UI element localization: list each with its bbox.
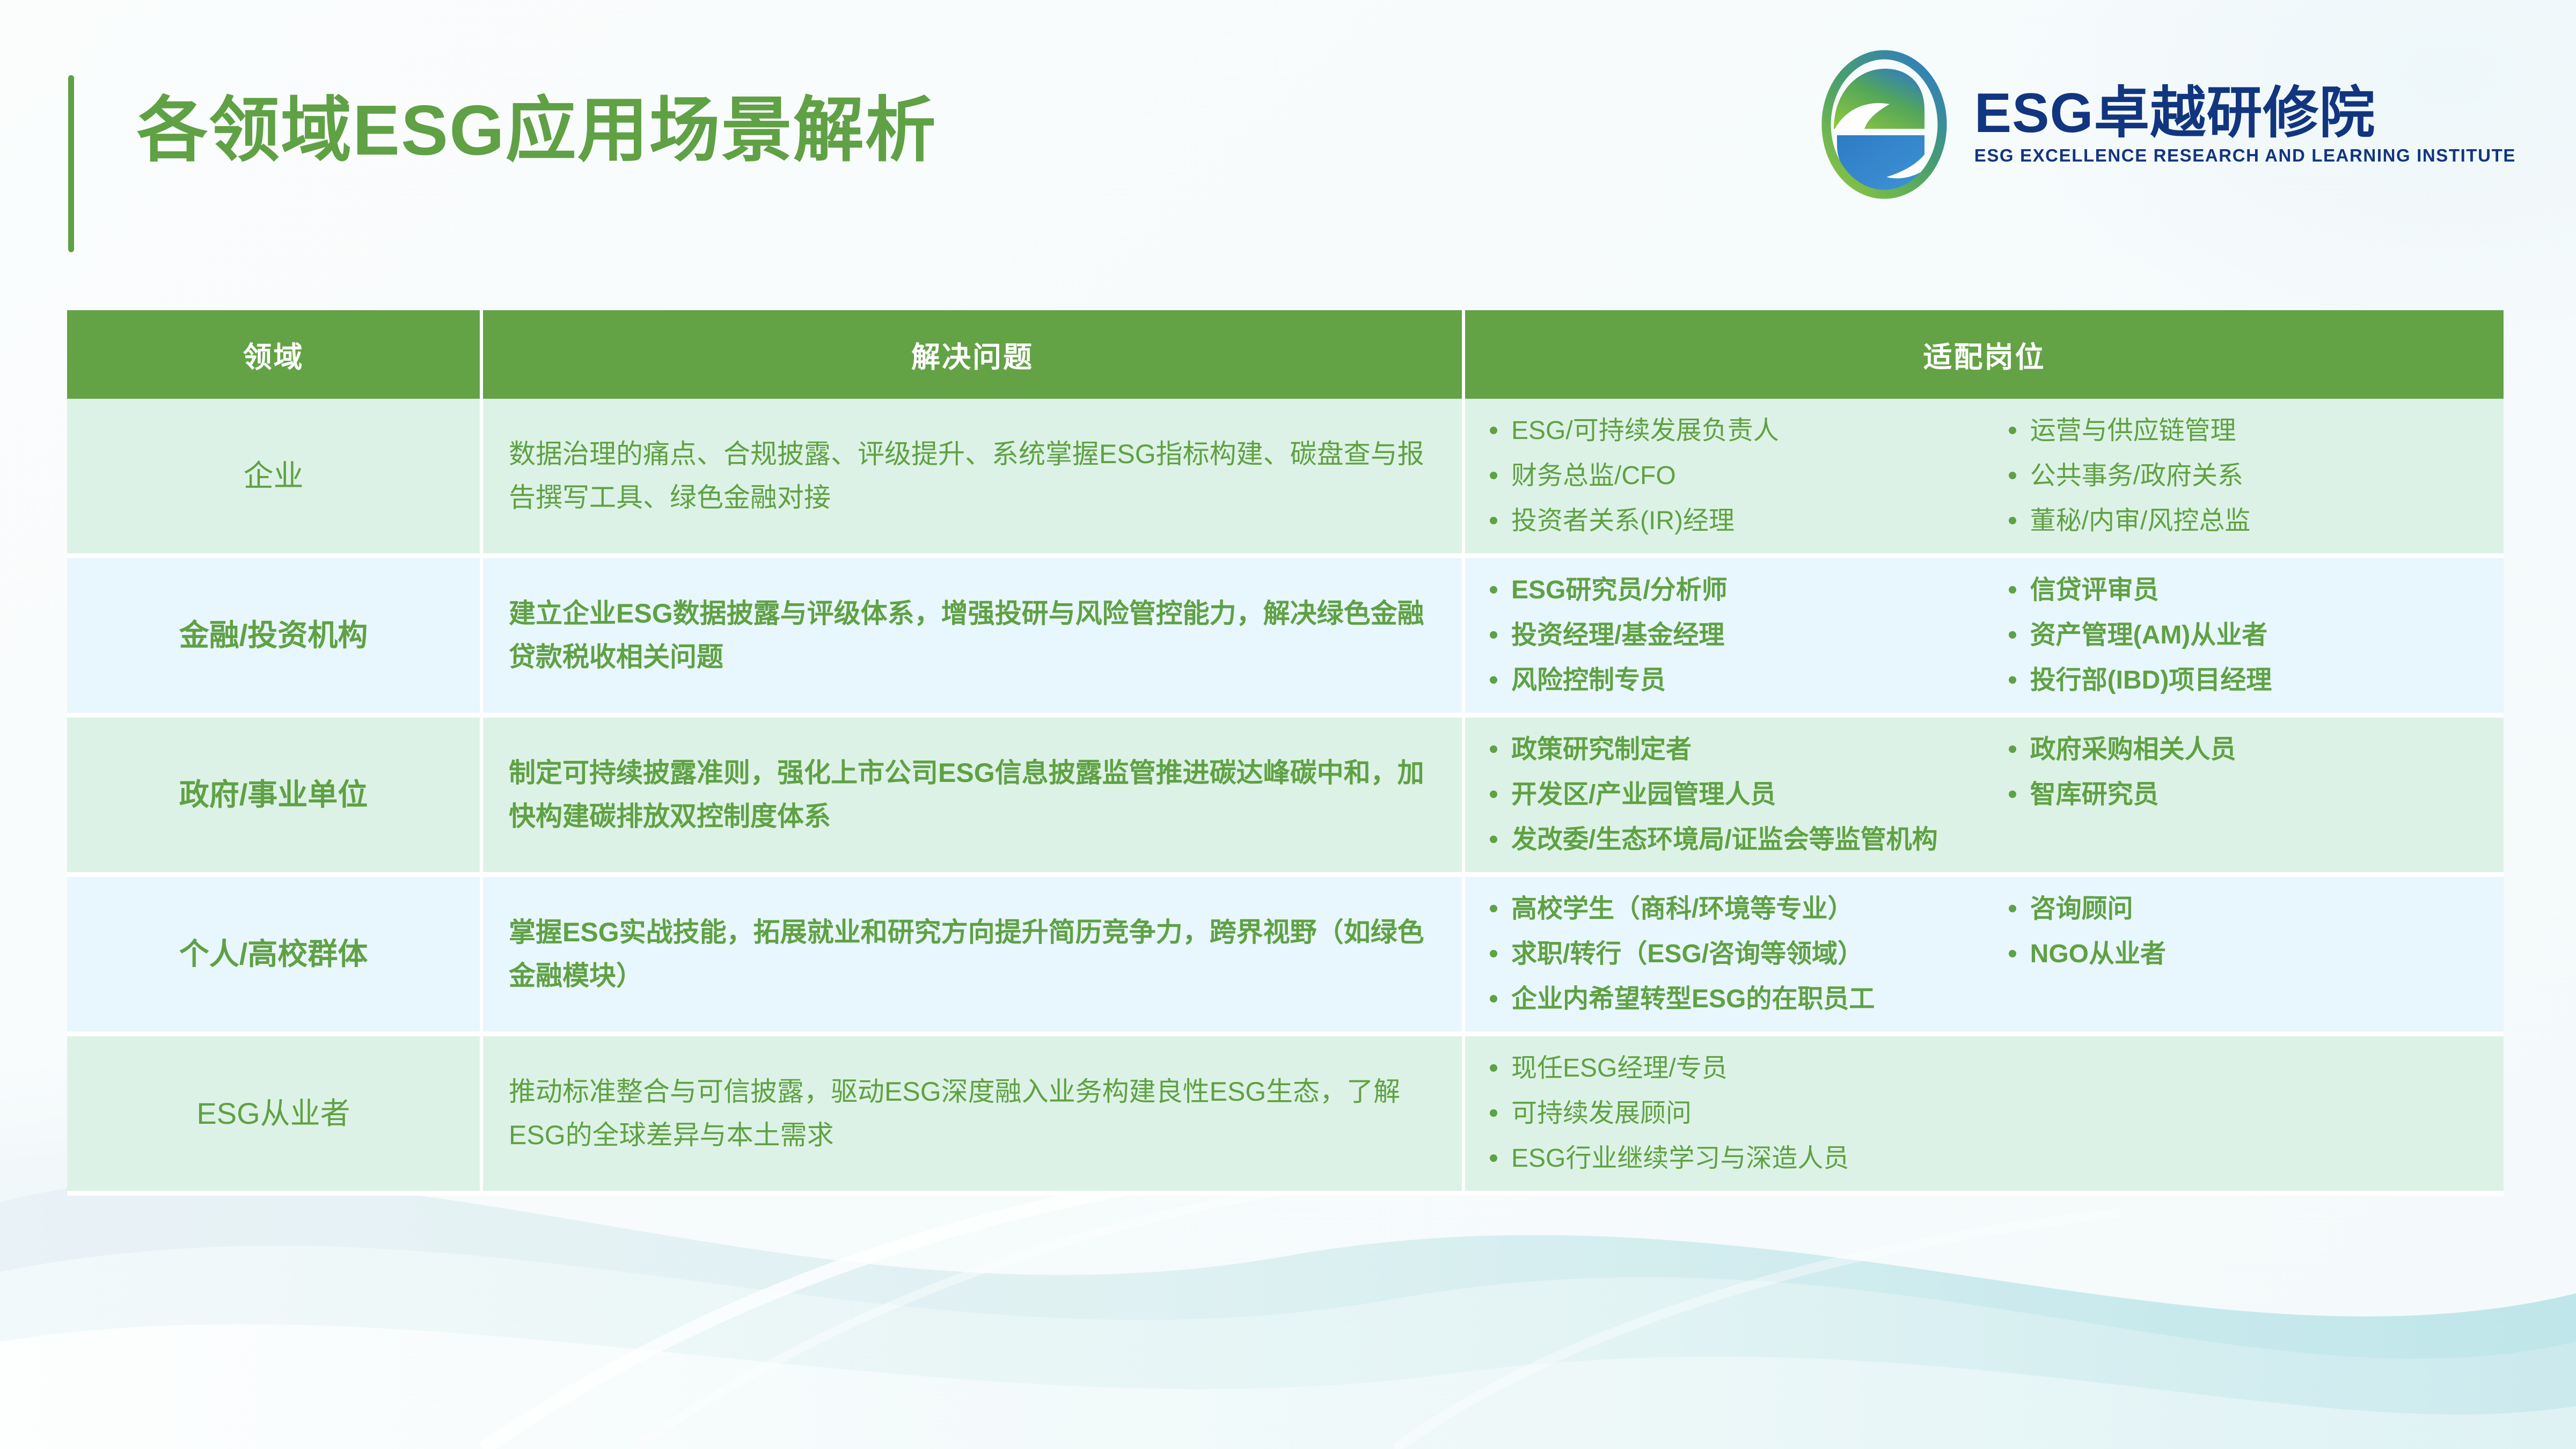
bullet-icon — [2009, 791, 2016, 798]
role-item: ESG行业继续学习与深造人员 — [1490, 1143, 2009, 1175]
logo-title: ESG卓越研修院 — [1974, 85, 2516, 141]
domain-label: 企业 — [67, 458, 480, 494]
bullet-icon — [2009, 517, 2016, 524]
esg-emblem-icon — [1814, 49, 1954, 200]
table-row: 政府/事业单位制定可持续披露准则，强化上市公司ESG信息披露监管推进碳达峰碳中和… — [67, 718, 2504, 877]
role-item: 咨询顾问 — [2009, 893, 2487, 925]
role-item: 财务总监/CFO — [1490, 460, 2009, 492]
role-label: 政府采购相关人员 — [2030, 734, 2236, 766]
table-row: ESG从业者推动标准整合与可信披露，驱动ESG深度融入业务构建良性ESG生态，了… — [67, 1036, 2504, 1196]
role-label: 可持续发展顾问 — [1511, 1097, 1692, 1130]
role-label: 求职/转行（ESG/咨询等领域） — [1511, 938, 1863, 970]
domain-cell: 金融/投资机构 — [67, 558, 483, 718]
roles-cell: 现任ESG经理/专员可持续发展顾问ESG行业继续学习与深造人员 — [1465, 1036, 2504, 1196]
role-item: 投资者关系(IR)经理 — [1490, 505, 2009, 537]
domain-cell: 政府/事业单位 — [67, 718, 483, 877]
role-label: 企业内希望转型ESG的在职员工 — [1511, 983, 1875, 1015]
role-item: 高校学生（商科/环境等专业） — [1490, 893, 2009, 925]
bullet-icon — [2009, 586, 2016, 594]
problem-text: 建立企业ESG数据披露与评级体系，增强投研与风险管控能力，解决绿色金融贷款税收相… — [483, 592, 1462, 679]
roles-column-right: 咨询顾问NGO从业者 — [2009, 893, 2487, 970]
bullet-icon — [1490, 517, 1497, 524]
role-item: 现任ESG经理/专员 — [1490, 1052, 2009, 1085]
bullet-icon — [1490, 791, 1497, 798]
roles-cell: ESG/可持续发展负责人财务总监/CFO投资者关系(IR)经理运营与供应链管理公… — [1465, 399, 2504, 558]
table-row: 个人/高校群体掌握ESG实战技能，拓展就业和研究方向提升简历竞争力，跨界视野（如… — [67, 877, 2504, 1036]
role-label: 投资者关系(IR)经理 — [1511, 505, 1735, 537]
table-header-row: 领域解决问题适配岗位 — [67, 310, 2504, 399]
roles-cell: ESG研究员/分析师投资经理/基金经理风险控制专员信贷评审员资产管理(AM)从业… — [1465, 558, 2504, 718]
role-label: 政策研究制定者 — [1511, 734, 1692, 766]
scenario-table: 领域解决问题适配岗位企业数据治理的痛点、合规披露、评级提升、系统掌握ESG指标构… — [67, 310, 2504, 1196]
table-row: 金融/投资机构建立企业ESG数据披露与评级体系，增强投研与风险管控能力，解决绿色… — [67, 558, 2504, 718]
problem-text: 制定可持续披露准则，强化上市公司ESG信息披露监管推进碳达峰碳中和，加快构建碳排… — [483, 751, 1462, 838]
role-label: ESG研究员/分析师 — [1511, 574, 1728, 606]
domain-label: 政府/事业单位 — [67, 777, 480, 813]
role-label: 信贷评审员 — [2030, 574, 2159, 606]
problem-cell: 数据治理的痛点、合规披露、评级提升、系统掌握ESG指标构建、碳盘查与报告撰写工具… — [483, 399, 1465, 558]
domain-cell: 个人/高校群体 — [67, 877, 483, 1036]
roles-column-right: 信贷评审员资产管理(AM)从业者投行部(IBD)项目经理 — [2009, 574, 2487, 697]
role-label: 咨询顾问 — [2030, 893, 2133, 925]
role-item: ESG/可持续发展负责人 — [1490, 415, 2009, 447]
bullet-icon — [2009, 631, 2016, 639]
role-label: ESG行业继续学习与深造人员 — [1511, 1143, 1849, 1175]
role-label: 公共事务/政府关系 — [2030, 460, 2243, 492]
role-label: 财务总监/CFO — [1511, 460, 1676, 492]
roles-column-left: ESG/可持续发展负责人财务总监/CFO投资者关系(IR)经理 — [1490, 415, 2009, 537]
roles-list: ESG/可持续发展负责人财务总监/CFO投资者关系(IR)经理运营与供应链管理公… — [1465, 415, 2504, 537]
role-label: 董秘/内审/风控总监 — [2030, 505, 2251, 537]
column-header-3: 适配岗位 — [1465, 310, 2504, 399]
bullet-icon — [1490, 1064, 1497, 1072]
problem-text: 推动标准整合与可信披露，驱动ESG深度融入业务构建良性ESG生态，了解ESG的全… — [483, 1070, 1462, 1157]
bullet-icon — [2009, 905, 2016, 912]
roles-column-right: 政府采购相关人员智库研究员 — [2009, 734, 2487, 811]
roles-columns: 高校学生（商科/环境等专业）求职/转行（ESG/咨询等领域）咨询顾问NGO从业者 — [1490, 893, 2487, 970]
domain-cell: 企业 — [67, 399, 483, 558]
logo-subtitle: ESG EXCELLENCE RESEARCH AND LEARNING INS… — [1974, 147, 2516, 164]
slide-header: 各领域ESG应用场景解析 — [0, 0, 2576, 279]
bullet-icon — [1490, 1109, 1497, 1117]
role-item: 政府采购相关人员 — [2009, 734, 2487, 766]
table-row: 企业数据治理的痛点、合规披露、评级提升、系统掌握ESG指标构建、碳盘查与报告撰写… — [67, 399, 2504, 558]
role-label: 投行部(IBD)项目经理 — [2030, 664, 2272, 697]
role-item: 风险控制专员 — [1490, 664, 2009, 697]
role-item: 求职/转行（ESG/咨询等领域） — [1490, 938, 2009, 970]
role-label: ESG/可持续发展负责人 — [1511, 415, 1779, 447]
bullet-icon — [2009, 427, 2016, 434]
roles-cell: 高校学生（商科/环境等专业）求职/转行（ESG/咨询等领域）咨询顾问NGO从业者… — [1465, 877, 2504, 1036]
roles-list: 政策研究制定者开发区/产业园管理人员政府采购相关人员智库研究员发改委/生态环境局… — [1465, 734, 2504, 856]
problem-text: 数据治理的痛点、合规披露、评级提升、系统掌握ESG指标构建、碳盘查与报告撰写工具… — [483, 433, 1462, 519]
column-header-2: 解决问题 — [483, 310, 1465, 399]
role-label: NGO从业者 — [2030, 938, 2166, 970]
roles-column-left: 高校学生（商科/环境等专业）求职/转行（ESG/咨询等领域） — [1490, 893, 2009, 970]
problem-cell: 推动标准整合与可信披露，驱动ESG深度融入业务构建良性ESG生态，了解ESG的全… — [483, 1036, 1465, 1196]
role-item: 企业内希望转型ESG的在职员工 — [1490, 983, 2487, 1015]
bullet-icon — [2009, 472, 2016, 479]
role-item: 开发区/产业园管理人员 — [1490, 779, 2009, 811]
domain-label: 金融/投资机构 — [67, 617, 480, 653]
bullet-icon — [1490, 427, 1497, 434]
roles-list: 现任ESG经理/专员可持续发展顾问ESG行业继续学习与深造人员 — [1465, 1052, 2504, 1175]
role-label: 运营与供应链管理 — [2030, 415, 2236, 447]
role-label: 投资经理/基金经理 — [1511, 619, 1724, 652]
roles-column-right: 运营与供应链管理公共事务/政府关系董秘/内审/风控总监 — [2009, 415, 2487, 537]
role-item: 公共事务/政府关系 — [2009, 460, 2487, 492]
brand-logo: ESG卓越研修院 ESG EXCELLENCE RESEARCH AND LEA… — [1814, 49, 2516, 200]
problem-text: 掌握ESG实战技能，拓展就业和研究方向提升简历竞争力，跨界视野（如绿色金融模块） — [483, 911, 1462, 998]
role-label: 高校学生（商科/环境等专业） — [1511, 893, 1853, 925]
roles-column-left: ESG研究员/分析师投资经理/基金经理风险控制专员 — [1490, 574, 2009, 697]
roles-column-right — [2009, 1052, 2487, 1175]
column-header-1: 领域 — [67, 310, 483, 399]
role-label: 现任ESG经理/专员 — [1511, 1052, 1728, 1085]
bullet-icon — [1490, 995, 1497, 1002]
bullet-icon — [1490, 836, 1497, 843]
role-item: 信贷评审员 — [2009, 574, 2487, 606]
role-item: 投行部(IBD)项目经理 — [2009, 664, 2487, 697]
roles-column-left: 现任ESG经理/专员可持续发展顾问ESG行业继续学习与深造人员 — [1490, 1052, 2009, 1175]
roles-columns: 现任ESG经理/专员可持续发展顾问ESG行业继续学习与深造人员 — [1490, 1052, 2487, 1175]
role-item: 资产管理(AM)从业者 — [2009, 619, 2487, 652]
role-item: 发改委/生态环境局/证监会等监管机构 — [1490, 824, 2487, 856]
roles-list: ESG研究员/分析师投资经理/基金经理风险控制专员信贷评审员资产管理(AM)从业… — [1465, 574, 2504, 697]
domain-cell: ESG从业者 — [67, 1036, 483, 1196]
bullet-icon — [1490, 676, 1497, 684]
role-label: 开发区/产业园管理人员 — [1511, 779, 1776, 811]
role-label: 风险控制专员 — [1511, 664, 1666, 697]
role-item: 可持续发展顾问 — [1490, 1097, 2009, 1130]
title-accent-bar — [68, 75, 74, 252]
bullet-icon — [2009, 950, 2016, 957]
role-label: 资产管理(AM)从业者 — [2030, 619, 2268, 652]
roles-cell: 政策研究制定者开发区/产业园管理人员政府采购相关人员智库研究员发改委/生态环境局… — [1465, 718, 2504, 877]
bullet-icon — [1490, 472, 1497, 479]
role-item: ESG研究员/分析师 — [1490, 574, 2009, 606]
role-item: 智库研究员 — [2009, 779, 2487, 811]
bullet-icon — [1490, 950, 1497, 957]
problem-cell: 建立企业ESG数据披露与评级体系，增强投研与风险管控能力，解决绿色金融贷款税收相… — [483, 558, 1465, 718]
domain-label: 个人/高校群体 — [67, 936, 480, 972]
roles-column-left: 政策研究制定者开发区/产业园管理人员 — [1490, 734, 2009, 811]
roles-columns: ESG/可持续发展负责人财务总监/CFO投资者关系(IR)经理运营与供应链管理公… — [1490, 415, 2487, 537]
role-item: 董秘/内审/风控总监 — [2009, 505, 2487, 537]
page-title: 各领域ESG应用场景解析 — [137, 86, 937, 174]
role-item: 政策研究制定者 — [1490, 734, 2009, 766]
roles-columns: 政策研究制定者开发区/产业园管理人员政府采购相关人员智库研究员 — [1490, 734, 2487, 811]
bullet-icon — [1490, 586, 1497, 594]
bullet-icon — [1490, 745, 1497, 753]
role-label: 发改委/生态环境局/证监会等监管机构 — [1511, 824, 1938, 856]
bullet-icon — [1490, 1154, 1497, 1162]
role-item: NGO从业者 — [2009, 938, 2487, 970]
role-label: 智库研究员 — [2030, 779, 2159, 811]
domain-label: ESG从业者 — [67, 1095, 480, 1131]
roles-columns: ESG研究员/分析师投资经理/基金经理风险控制专员信贷评审员资产管理(AM)从业… — [1490, 574, 2487, 697]
role-item: 投资经理/基金经理 — [1490, 619, 2009, 652]
bullet-icon — [2009, 676, 2016, 684]
problem-cell: 制定可持续披露准则，强化上市公司ESG信息披露监管推进碳达峰碳中和，加快构建碳排… — [483, 718, 1465, 877]
roles-list: 高校学生（商科/环境等专业）求职/转行（ESG/咨询等领域）咨询顾问NGO从业者… — [1465, 893, 2504, 1015]
bullet-icon — [2009, 745, 2016, 753]
bullet-icon — [1490, 631, 1497, 639]
bullet-icon — [1490, 905, 1497, 912]
problem-cell: 掌握ESG实战技能，拓展就业和研究方向提升简历竞争力，跨界视野（如绿色金融模块） — [483, 877, 1465, 1036]
role-item: 运营与供应链管理 — [2009, 415, 2487, 447]
